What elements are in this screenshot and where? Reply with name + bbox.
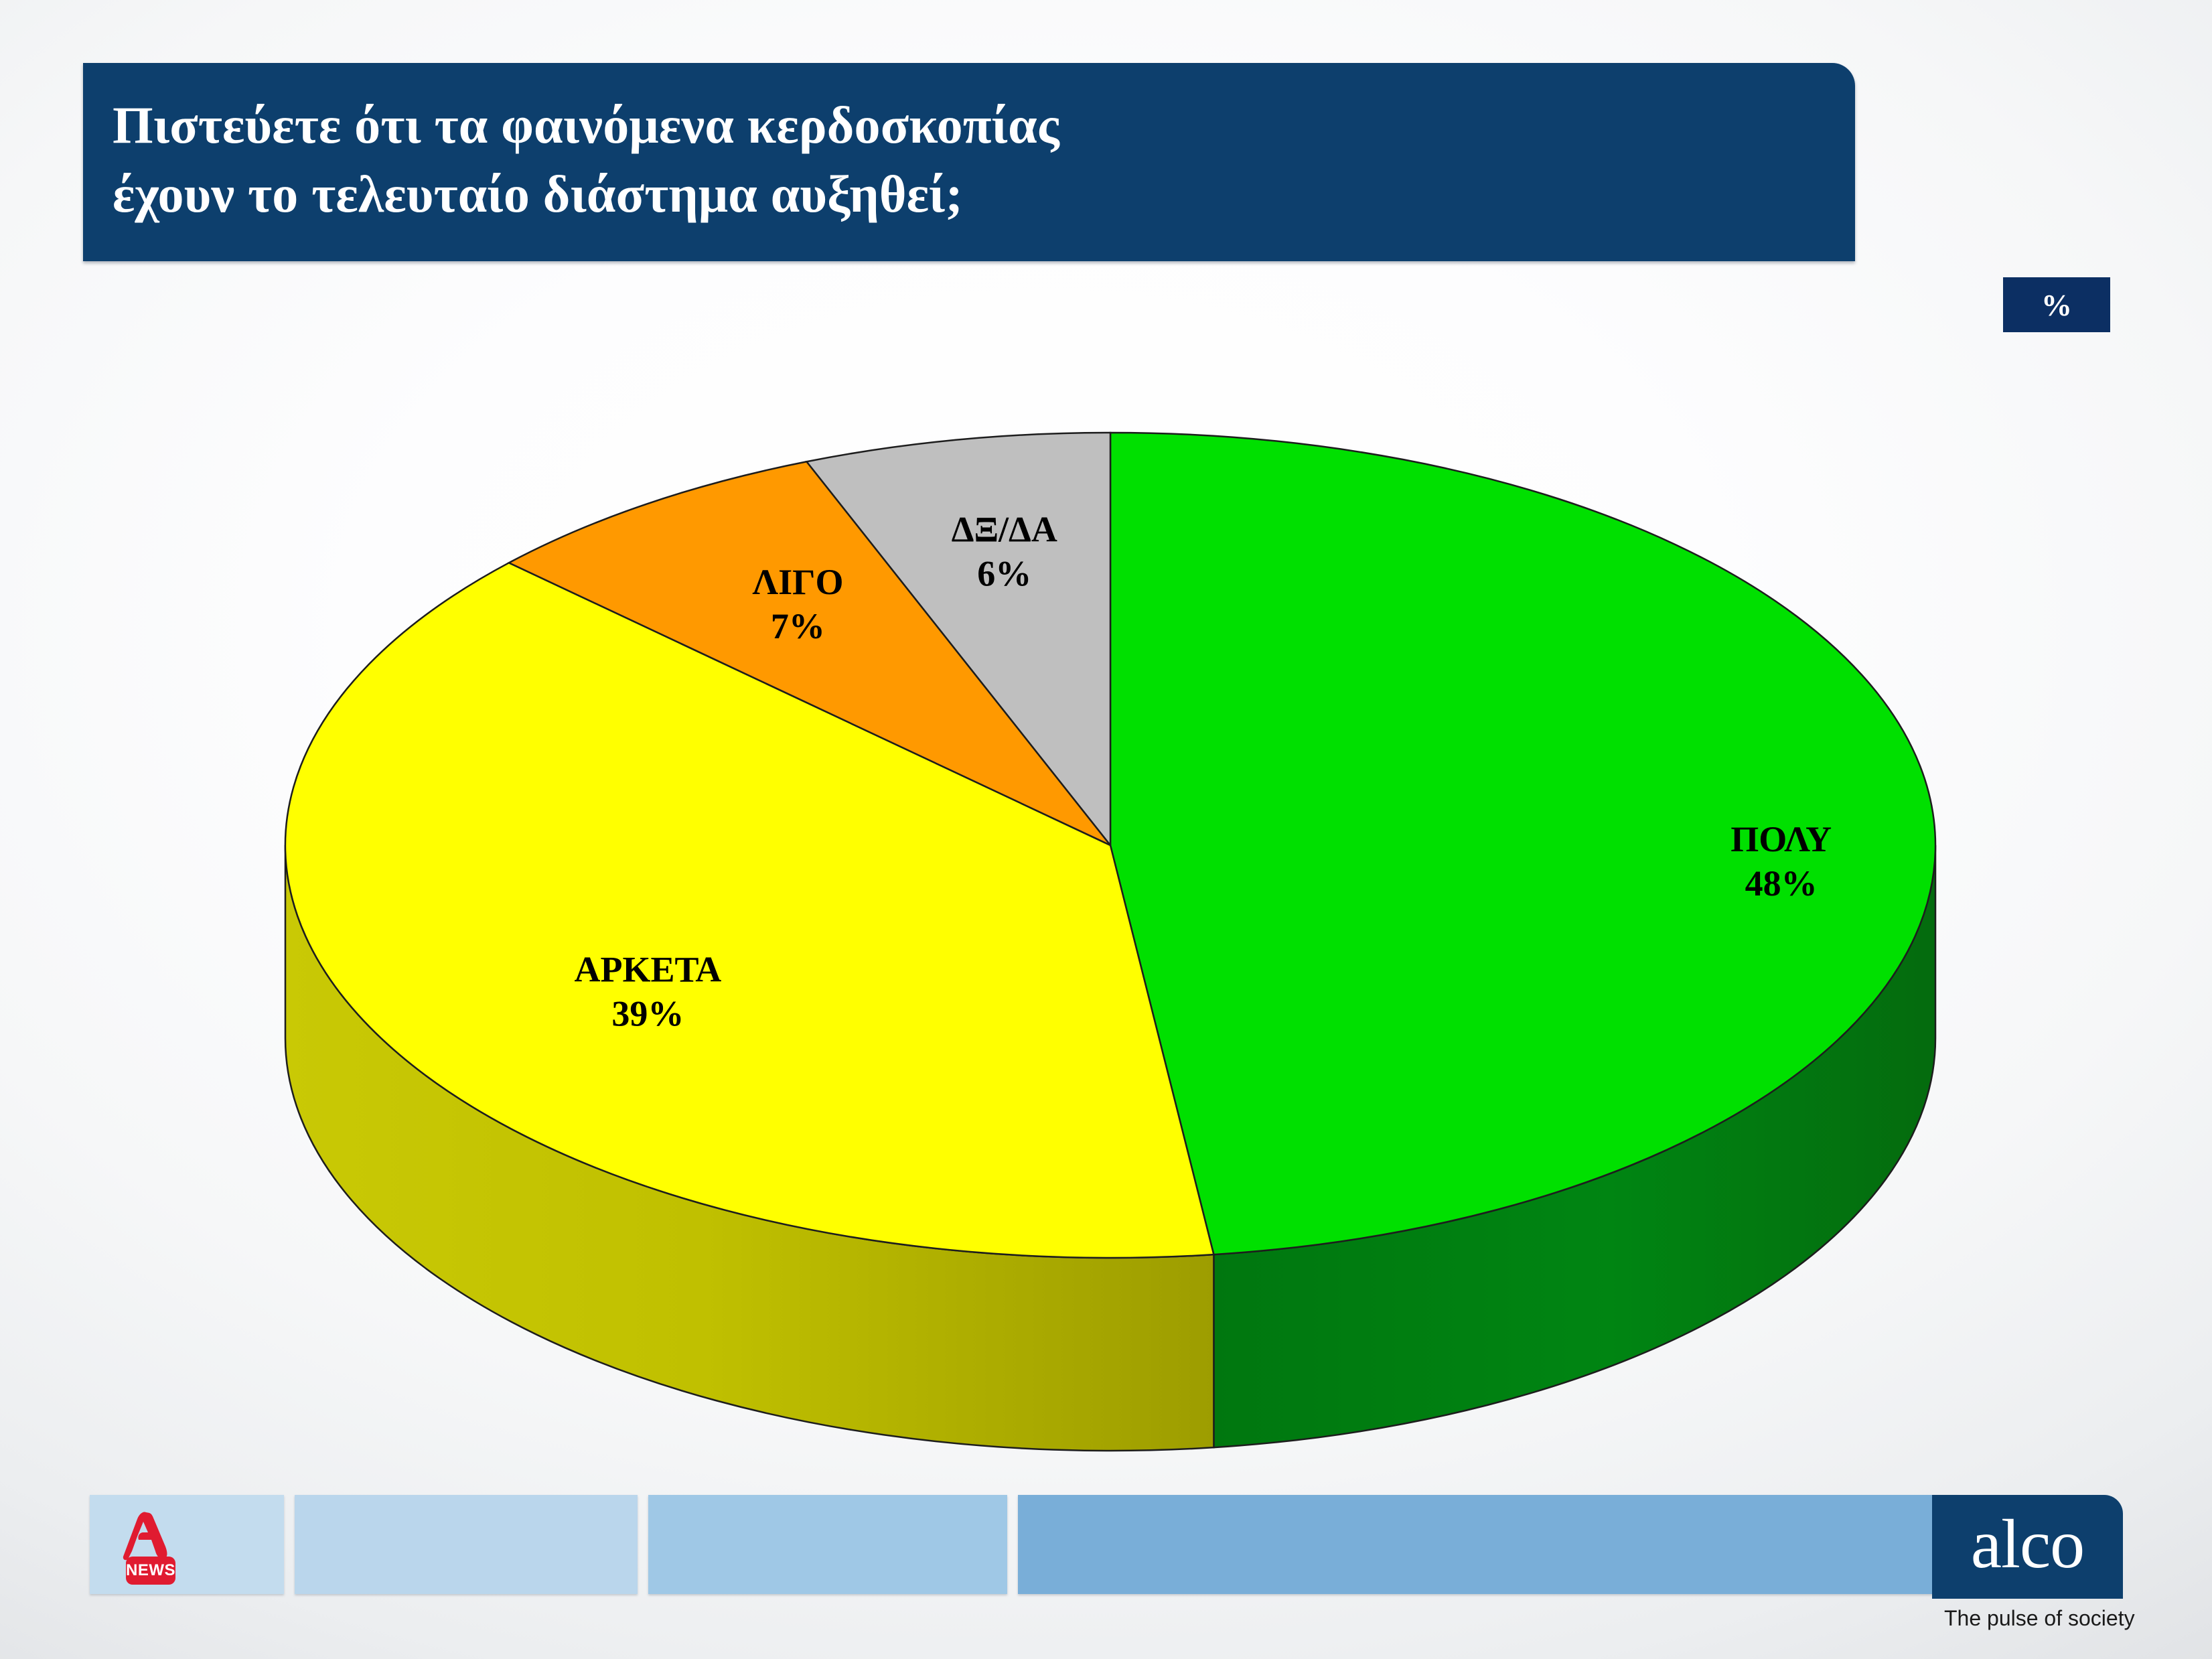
pie-chart-svg: ΠΟΛΥ48%ΑΡΚΕΤΑ39%ΛΙΓΟ7%ΔΞ/ΔΑ6% — [0, 0, 2212, 1659]
pie-chart: ΠΟΛΥ48%ΑΡΚΕΤΑ39%ΛΙΓΟ7%ΔΞ/ΔΑ6% — [0, 0, 2212, 1659]
footer-bar: NEWS — [0, 1495, 2212, 1595]
footer-block-4 — [1018, 1495, 1958, 1594]
alco-logo-box: alco — [1932, 1495, 2123, 1599]
footer-block-1: NEWS — [90, 1495, 284, 1594]
alco-logo: alco The pulse of society — [1932, 1495, 2123, 1649]
footer-block-2 — [295, 1495, 638, 1594]
alpha-news-logo: NEWS — [117, 1510, 186, 1585]
pie-geometry — [285, 433, 1935, 1451]
footer-block-3 — [648, 1495, 1007, 1594]
alpha-a-icon — [117, 1510, 186, 1562]
slide-canvas: Πιστεύετε ότι τα φαινόμενα κερδοσκοπίας … — [0, 0, 2212, 1659]
news-pill-label: NEWS — [126, 1557, 175, 1585]
alco-tagline: The pulse of society — [1944, 1606, 2135, 1631]
alco-wordmark: alco — [1971, 1510, 2084, 1585]
